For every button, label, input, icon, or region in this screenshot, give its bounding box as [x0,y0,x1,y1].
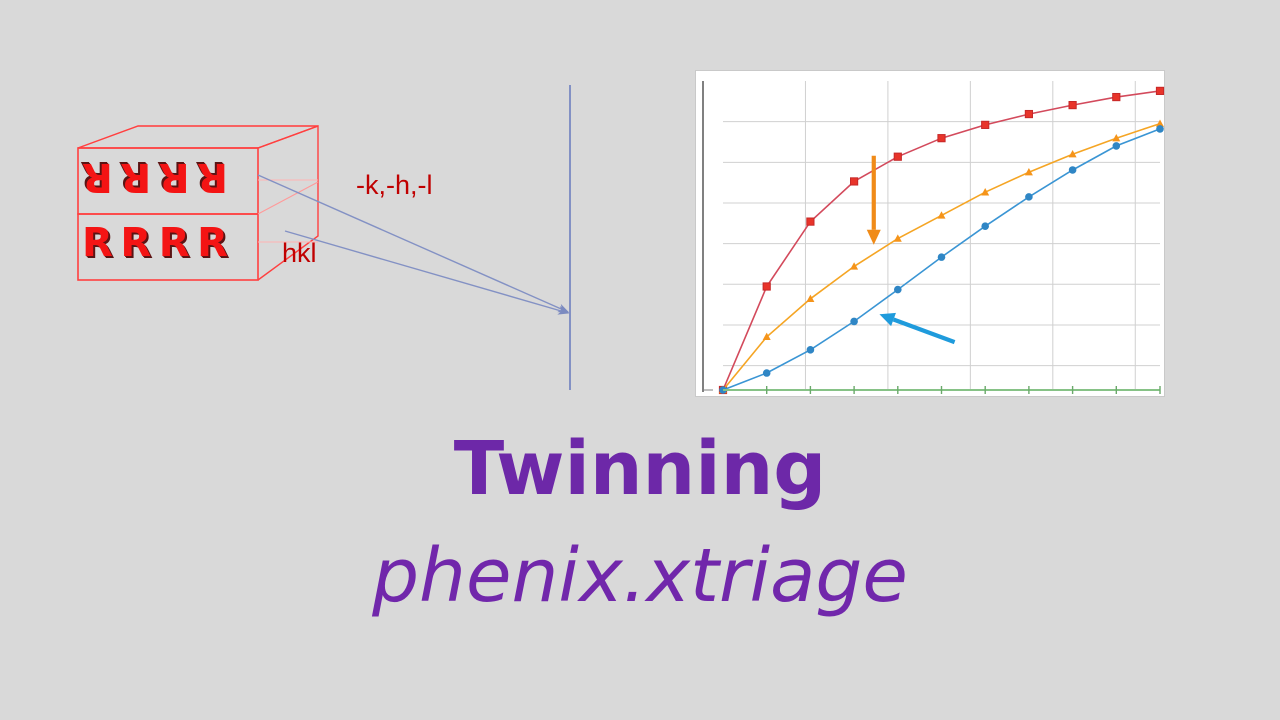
data-point-triangle [850,262,858,269]
data-point-square [1025,110,1032,117]
data-point-circle [807,346,815,354]
data-point-circle [894,286,902,294]
data-point-circle [850,318,858,326]
data-point-square [982,121,989,128]
cumulative-intensity-chart [695,70,1165,397]
data-point-square [894,153,901,160]
data-point-square [1113,93,1120,100]
data-point-square [1156,87,1163,94]
blue-pointer-arrow-shaft [894,320,955,343]
data-point-circle [1069,166,1077,174]
data-point-circle [1025,193,1033,201]
mirror-axis-line [569,85,571,390]
data-point-triangle [938,211,946,218]
reflection-arrow-upper [258,175,568,312]
data-point-circle [938,253,946,261]
data-point-circle [1113,142,1121,150]
chart-plot-svg [696,71,1166,398]
chart-axes [703,81,713,392]
chart-gridlines [723,81,1160,390]
reflection-arrow-lower [285,231,568,313]
data-point-circle [763,369,771,377]
data-point-square [851,178,858,185]
data-point-square [1069,102,1076,109]
chart-annotation-layer [867,156,955,342]
orange-down-arrow-head [867,230,881,245]
data-point-square [807,218,814,225]
data-point-square [938,135,945,142]
data-point-square [763,283,770,290]
slide-canvas: R R R R R R R R -k,-h,-l hkl [0,0,1280,720]
chart-series-layer [719,87,1164,394]
page-subtitle: phenix.xtriage [0,532,1280,620]
data-point-circle [981,222,989,230]
page-title: Twinning [0,428,1280,510]
data-point-triangle [894,234,902,241]
data-point-circle [1156,125,1164,133]
